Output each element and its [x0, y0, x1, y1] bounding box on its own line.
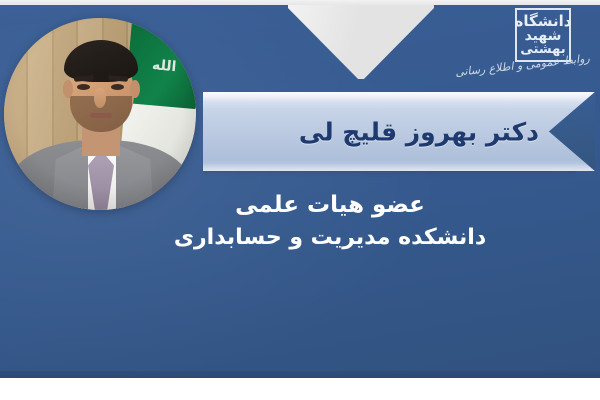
portrait-eye-left: [77, 84, 90, 90]
portrait-eye-right: [111, 84, 124, 90]
portrait-ear-right: [130, 80, 140, 98]
panel-bottom-edge: [0, 371, 600, 378]
university-logo-line-1: دانشگاه: [515, 14, 572, 29]
portrait-ear-left: [63, 80, 73, 98]
portrait-mouth: [90, 113, 112, 118]
profile-banner-card: دانشگاه شهید بهشتی روابط عمومی و اطلاع ر…: [0, 0, 600, 400]
name-ribbon: دکتر بهروز قلیچ لی: [203, 92, 595, 171]
role-title: عضو هیات علمی: [120, 190, 540, 221]
university-logo: دانشگاه شهید بهشتی روابط عمومی و اطلاع ر…: [470, 8, 592, 86]
role-subtitle: عضو هیات علمی دانشکده مدیریت و حسابداری: [120, 190, 540, 253]
person-name: دکتر بهروز قلیچ لی: [299, 117, 539, 146]
faculty-name: دانشکده مدیریت و حسابداری: [120, 223, 540, 253]
ribbon-highlight-top: [203, 92, 595, 102]
university-logo-text: دانشگاه شهید بهشتی: [520, 13, 566, 57]
avatar: الله: [4, 18, 196, 210]
bottom-white-margin: [0, 378, 600, 400]
portrait-nose: [94, 88, 106, 108]
ribbon-highlight-bottom: [203, 163, 595, 171]
university-logo-line-2: شهید: [525, 29, 562, 43]
